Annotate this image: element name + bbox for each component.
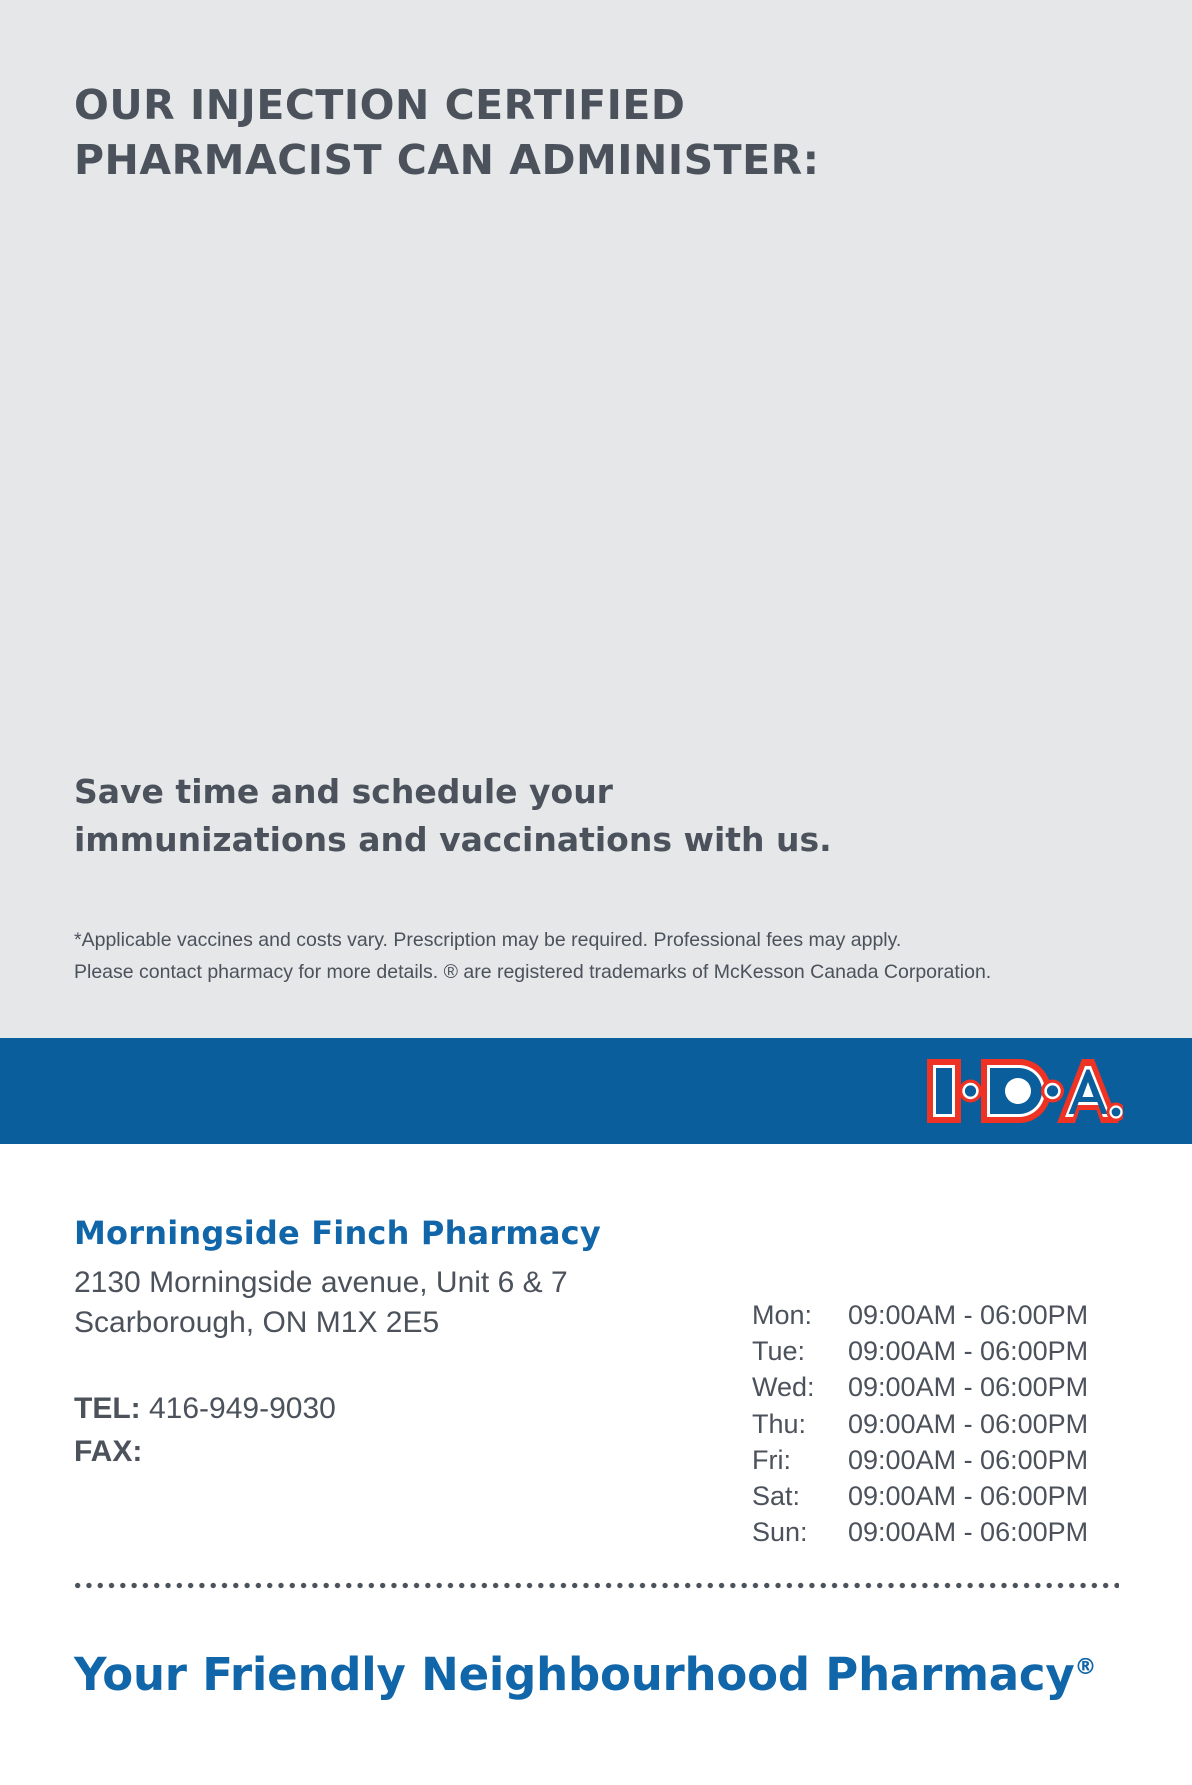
page-title-line-1: OUR INJECTION CERTIFIED: [74, 78, 974, 133]
hours-row: Fri: 09:00AM - 06:00PM: [752, 1442, 1152, 1478]
hours-day: Fri:: [752, 1442, 848, 1478]
subheading-line-2: immunizations and vaccinations with us.: [74, 816, 954, 864]
fax-row: FAX:: [74, 1431, 674, 1474]
subheading: Save time and schedule your immunization…: [74, 768, 954, 864]
ida-logo-icon: [923, 1055, 1123, 1127]
hours-row: Wed: 09:00AM - 06:00PM: [752, 1369, 1152, 1405]
hours-day: Sat:: [752, 1478, 848, 1514]
hours-row: Tue: 09:00AM - 06:00PM: [752, 1333, 1152, 1369]
tagline-text: Your Friendly Neighbourhood Pharmacy: [74, 1648, 1075, 1701]
disclaimer-text: *Applicable vaccines and costs vary. Pre…: [74, 925, 1134, 988]
telephone-row: TEL: 416-949-9030: [74, 1388, 674, 1431]
page-title-line-2: PHARMACIST CAN ADMINISTER:: [74, 133, 974, 188]
store-address: 2130 Morningside avenue, Unit 6 & 7 Scar…: [74, 1263, 714, 1342]
hours-row: Thu: 09:00AM - 06:00PM: [752, 1406, 1152, 1442]
hours-time: 09:00AM - 06:00PM: [848, 1297, 1152, 1333]
address-line-1: 2130 Morningside avenue, Unit 6 & 7: [74, 1263, 714, 1303]
registered-trademark-mark: ®: [1075, 1655, 1097, 1680]
hours-day: Sun:: [752, 1514, 848, 1550]
disclaimer-line-1: *Applicable vaccines and costs vary. Pre…: [74, 925, 1134, 957]
hours-time: 09:00AM - 06:00PM: [848, 1514, 1152, 1550]
hours-time: 09:00AM - 06:00PM: [848, 1369, 1152, 1405]
telephone-label: TEL:: [74, 1392, 141, 1425]
hours-time: 09:00AM - 06:00PM: [848, 1333, 1152, 1369]
subheading-line-1: Save time and schedule your: [74, 768, 954, 816]
brand-band: [0, 1038, 1192, 1144]
telephone-value[interactable]: 416-949-9030: [149, 1392, 336, 1425]
dotted-divider: [72, 1582, 1119, 1589]
hours-day: Thu:: [752, 1406, 848, 1442]
hours-row: Sat: 09:00AM - 06:00PM: [752, 1478, 1152, 1514]
page-title: OUR INJECTION CERTIFIED PHARMACIST CAN A…: [74, 78, 974, 189]
tagline: Your Friendly Neighbourhood Pharmacy®: [74, 1648, 1096, 1701]
hours-row: Mon: 09:00AM - 06:00PM: [752, 1297, 1152, 1333]
hours-time: 09:00AM - 06:00PM: [848, 1478, 1152, 1514]
hours-day: Wed:: [752, 1369, 848, 1405]
hours-day: Tue:: [752, 1333, 848, 1369]
fax-label: FAX:: [74, 1435, 142, 1468]
store-contact: TEL: 416-949-9030 FAX:: [74, 1388, 674, 1473]
hours-time: 09:00AM - 06:00PM: [848, 1442, 1152, 1478]
hours-day: Mon:: [752, 1297, 848, 1333]
hours-row: Sun: 09:00AM - 06:00PM: [752, 1514, 1152, 1550]
hours-time: 09:00AM - 06:00PM: [848, 1406, 1152, 1442]
store-hours: Mon: 09:00AM - 06:00PM Tue: 09:00AM - 06…: [752, 1297, 1152, 1550]
pharmacy-name: Morningside Finch Pharmacy: [74, 1214, 601, 1252]
disclaimer-line-2: Please contact pharmacy for more details…: [74, 957, 1134, 989]
promo-panel: OUR INJECTION CERTIFIED PHARMACIST CAN A…: [0, 0, 1192, 1038]
address-line-2: Scarborough, ON M1X 2E5: [74, 1303, 714, 1343]
